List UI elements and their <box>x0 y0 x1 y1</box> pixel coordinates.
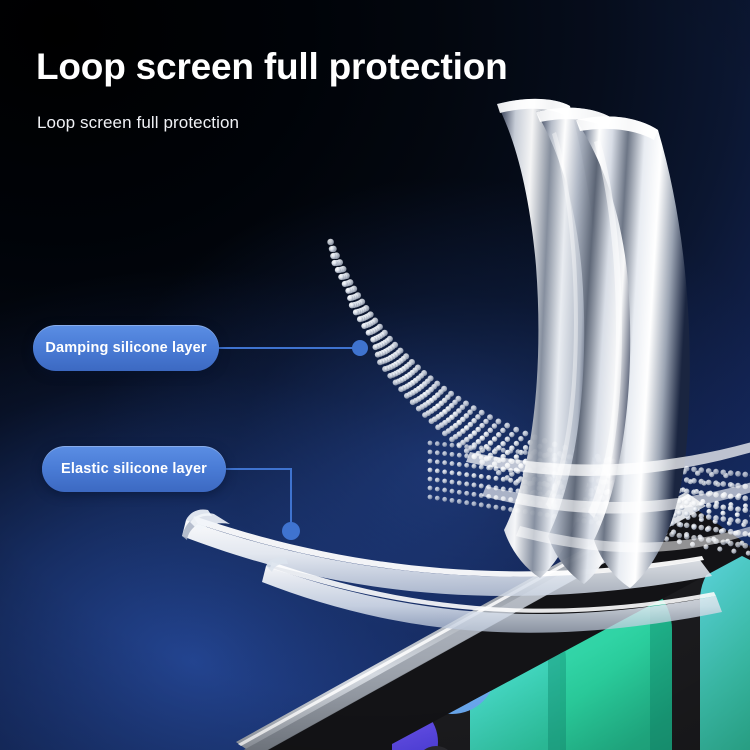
page-title: Loop screen full protection <box>36 46 508 88</box>
callout-damping-silicone-layer[interactable]: Damping silicone layer <box>33 325 219 371</box>
page-subtitle: Loop screen full protection <box>37 113 239 133</box>
callout-elastic-silicone-layer[interactable]: Elastic silicone layer <box>42 446 226 492</box>
callout-damping-label: Damping silicone layer <box>45 340 206 356</box>
callout-elastic-label: Elastic silicone layer <box>61 461 207 477</box>
product-feature-banner: Loop screen full protection Loop screen … <box>0 0 750 750</box>
